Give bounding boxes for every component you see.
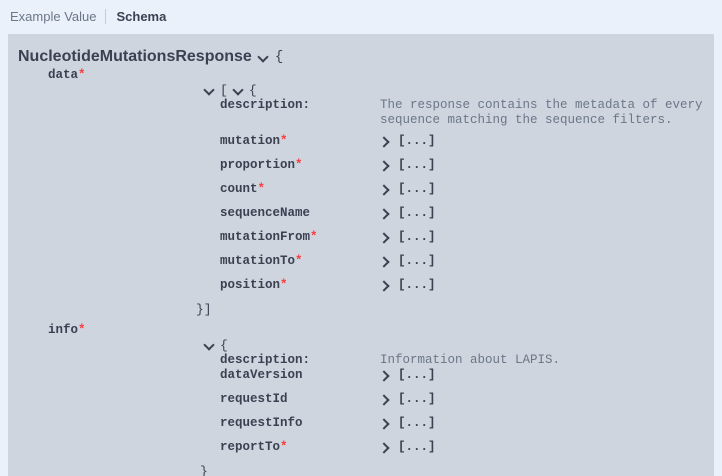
chevron-right-icon[interactable] <box>380 232 391 243</box>
property-row-data: data* <box>8 68 714 83</box>
chevron-right-icon[interactable] <box>380 256 391 267</box>
info-open-brace: { <box>220 338 228 353</box>
property-value-position[interactable]: [...] <box>220 278 436 293</box>
object-open-brace: { <box>249 83 257 98</box>
property-name-data: data* <box>8 68 213 83</box>
chevron-down-icon-array[interactable] <box>204 85 215 96</box>
array-open-bracket: [ <box>220 83 228 98</box>
table-row: requestInfo [...] <box>8 416 714 431</box>
property-name-info: info* <box>8 323 213 338</box>
chevron-down-icon-info[interactable] <box>204 340 215 351</box>
property-name-mutation: mutation* <box>8 134 220 149</box>
property-value-reportTo[interactable]: [...] <box>220 440 436 455</box>
table-row: position* [...] <box>8 278 714 293</box>
page-title: NucleotideMutationsResponse <box>18 48 252 66</box>
property-name-proportion: proportion* <box>8 158 220 173</box>
table-row: requestId [...] <box>8 392 714 407</box>
property-name-reportTo: reportTo* <box>8 440 220 455</box>
property-name-requestInfo: requestInfo <box>8 416 220 431</box>
chevron-right-icon[interactable] <box>380 184 391 195</box>
chevron-down-icon-object[interactable] <box>233 85 244 96</box>
property-value-mutation[interactable]: [...] <box>220 134 436 149</box>
chevron-right-icon[interactable] <box>380 418 391 429</box>
required-marker: * <box>78 323 86 337</box>
array-close-bracket: }] <box>196 302 212 317</box>
table-row: mutationFrom* [...] <box>8 230 714 245</box>
description-label: description: <box>8 98 220 113</box>
property-value-dataVersion[interactable]: [...] <box>220 368 436 383</box>
data-description-row: description: The response contains the m… <box>8 98 714 128</box>
data-array-close-row: }] <box>8 302 714 317</box>
schema-view-tabs: Example Value Schema <box>0 0 722 28</box>
property-value-mutationTo[interactable]: [...] <box>220 254 436 269</box>
property-name-sequenceName: sequenceName <box>8 206 220 221</box>
model-title-row[interactable]: NucleotideMutationsResponse { <box>8 46 714 68</box>
table-row: mutationTo* [...] <box>8 254 714 269</box>
property-value-mutationFrom[interactable]: [...] <box>220 230 436 245</box>
property-name-mutationTo: mutationTo* <box>8 254 220 269</box>
chevron-right-icon[interactable] <box>380 442 391 453</box>
info-description-text: Information about LAPIS. <box>220 353 560 368</box>
info-object-close-row: } <box>8 464 714 476</box>
property-value-sequenceName[interactable]: [...] <box>220 206 436 221</box>
chevron-right-icon[interactable] <box>380 394 391 405</box>
chevron-right-icon[interactable] <box>380 280 391 291</box>
chevron-right-icon[interactable] <box>380 208 391 219</box>
schema-panel: NucleotideMutationsResponse { data* [ { … <box>8 34 714 476</box>
property-value-requestInfo[interactable]: [...] <box>220 416 436 431</box>
info-close-brace: } <box>200 464 208 476</box>
table-row: proportion* [...] <box>8 158 714 173</box>
chevron-right-icon[interactable] <box>380 160 391 171</box>
description-label: description: <box>8 353 220 368</box>
tab-schema[interactable]: Schema <box>106 9 175 25</box>
model-open-brace: { <box>275 49 283 65</box>
data-description-text: The response contains the metadata of ev… <box>220 98 703 128</box>
property-name-dataVersion: dataVersion <box>8 368 220 383</box>
property-name-position: position* <box>8 278 220 293</box>
info-description-row: description: Information about LAPIS. <box>8 353 714 368</box>
property-value-count[interactable]: [...] <box>220 182 436 197</box>
table-row: reportTo* [...] <box>8 440 714 455</box>
property-name-count: count* <box>8 182 220 197</box>
property-value-proportion[interactable]: [...] <box>220 158 436 173</box>
required-marker: * <box>78 68 86 82</box>
chevron-right-icon[interactable] <box>380 136 391 147</box>
property-name-mutationFrom: mutationFrom* <box>8 230 220 245</box>
data-array-open-row: [ { <box>8 83 714 98</box>
chevron-right-icon[interactable] <box>380 370 391 381</box>
property-row-info: info* <box>8 323 714 338</box>
tab-example-value[interactable]: Example Value <box>10 9 105 25</box>
property-name-requestId: requestId <box>8 392 220 407</box>
table-row: mutation* [...] <box>8 134 714 149</box>
table-row: count* [...] <box>8 182 714 197</box>
table-row: sequenceName [...] <box>8 206 714 221</box>
table-row: dataVersion [...] <box>8 368 714 383</box>
property-value-requestId[interactable]: [...] <box>220 392 436 407</box>
chevron-down-icon[interactable] <box>258 52 269 63</box>
info-object-open-row: { <box>8 338 714 353</box>
